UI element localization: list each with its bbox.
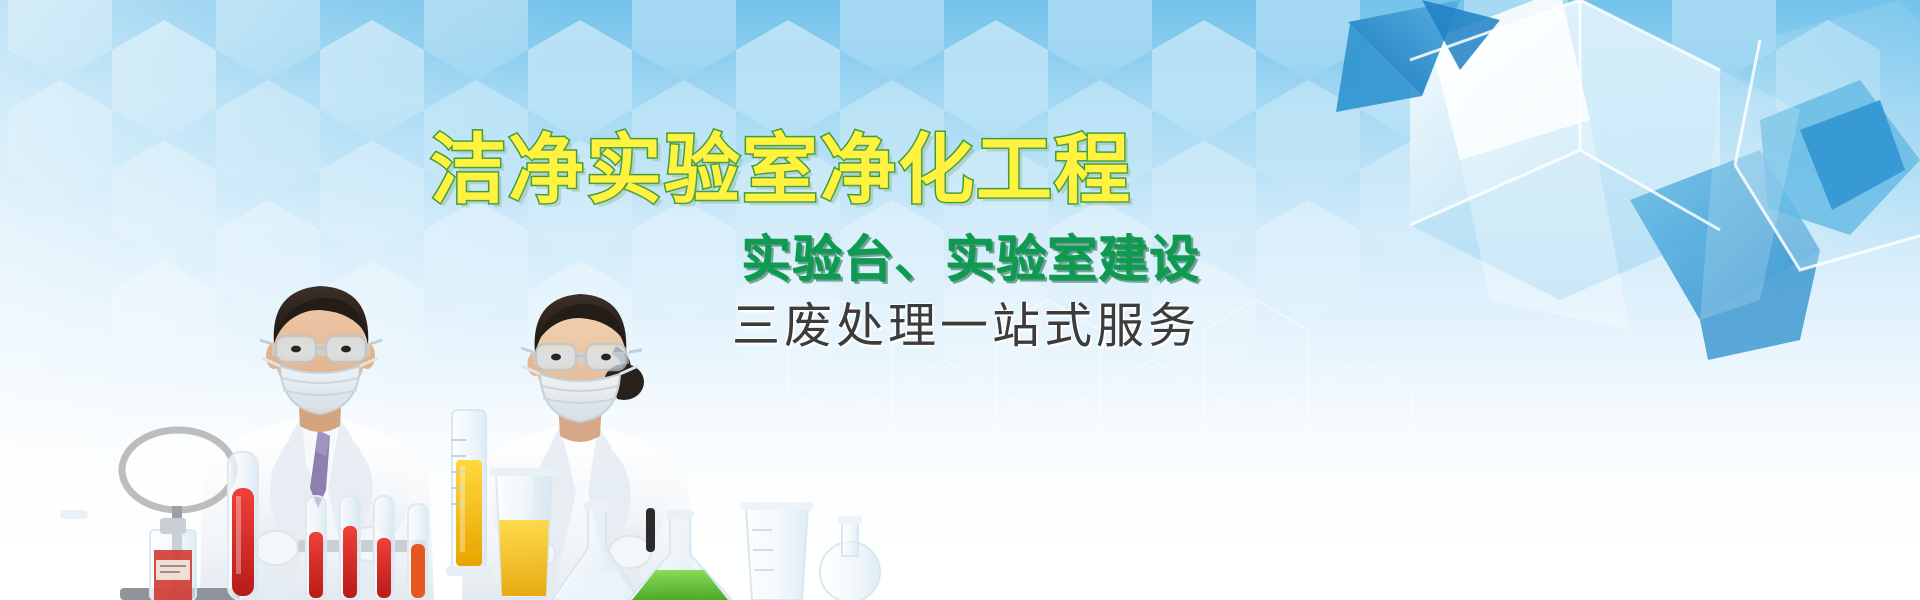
banner-subline-green: 实验台、实验室建设 xyxy=(440,234,1200,284)
glassware-svg xyxy=(60,400,940,600)
graduated-cylinder-yellow xyxy=(446,410,492,576)
promo-banner: 洁净实验室净化工程 实验台、实验室建设 三废处理一站式服务 xyxy=(0,0,1920,600)
laboratory-glassware xyxy=(60,410,880,600)
beaker-clear-tall xyxy=(740,502,814,600)
reagent-bottle xyxy=(150,518,196,600)
crystal-polygon-decoration xyxy=(1160,0,1920,460)
banner-subline-gray: 三废处理一站式服务 xyxy=(440,302,1200,350)
test-tube-red xyxy=(228,452,258,600)
erlenmeyer-flask-clear xyxy=(552,502,642,600)
banner-headline: 洁净实验室净化工程 xyxy=(430,132,1200,208)
round-flask-clear xyxy=(820,516,880,600)
test-tube-rack xyxy=(298,496,428,600)
banner-text-block: 洁净实验室净化工程 实验台、实验室建设 三废处理一站式服务 xyxy=(440,132,1200,350)
crystal-polygon-svg xyxy=(1160,0,1920,600)
beaker-yellow xyxy=(490,468,558,598)
